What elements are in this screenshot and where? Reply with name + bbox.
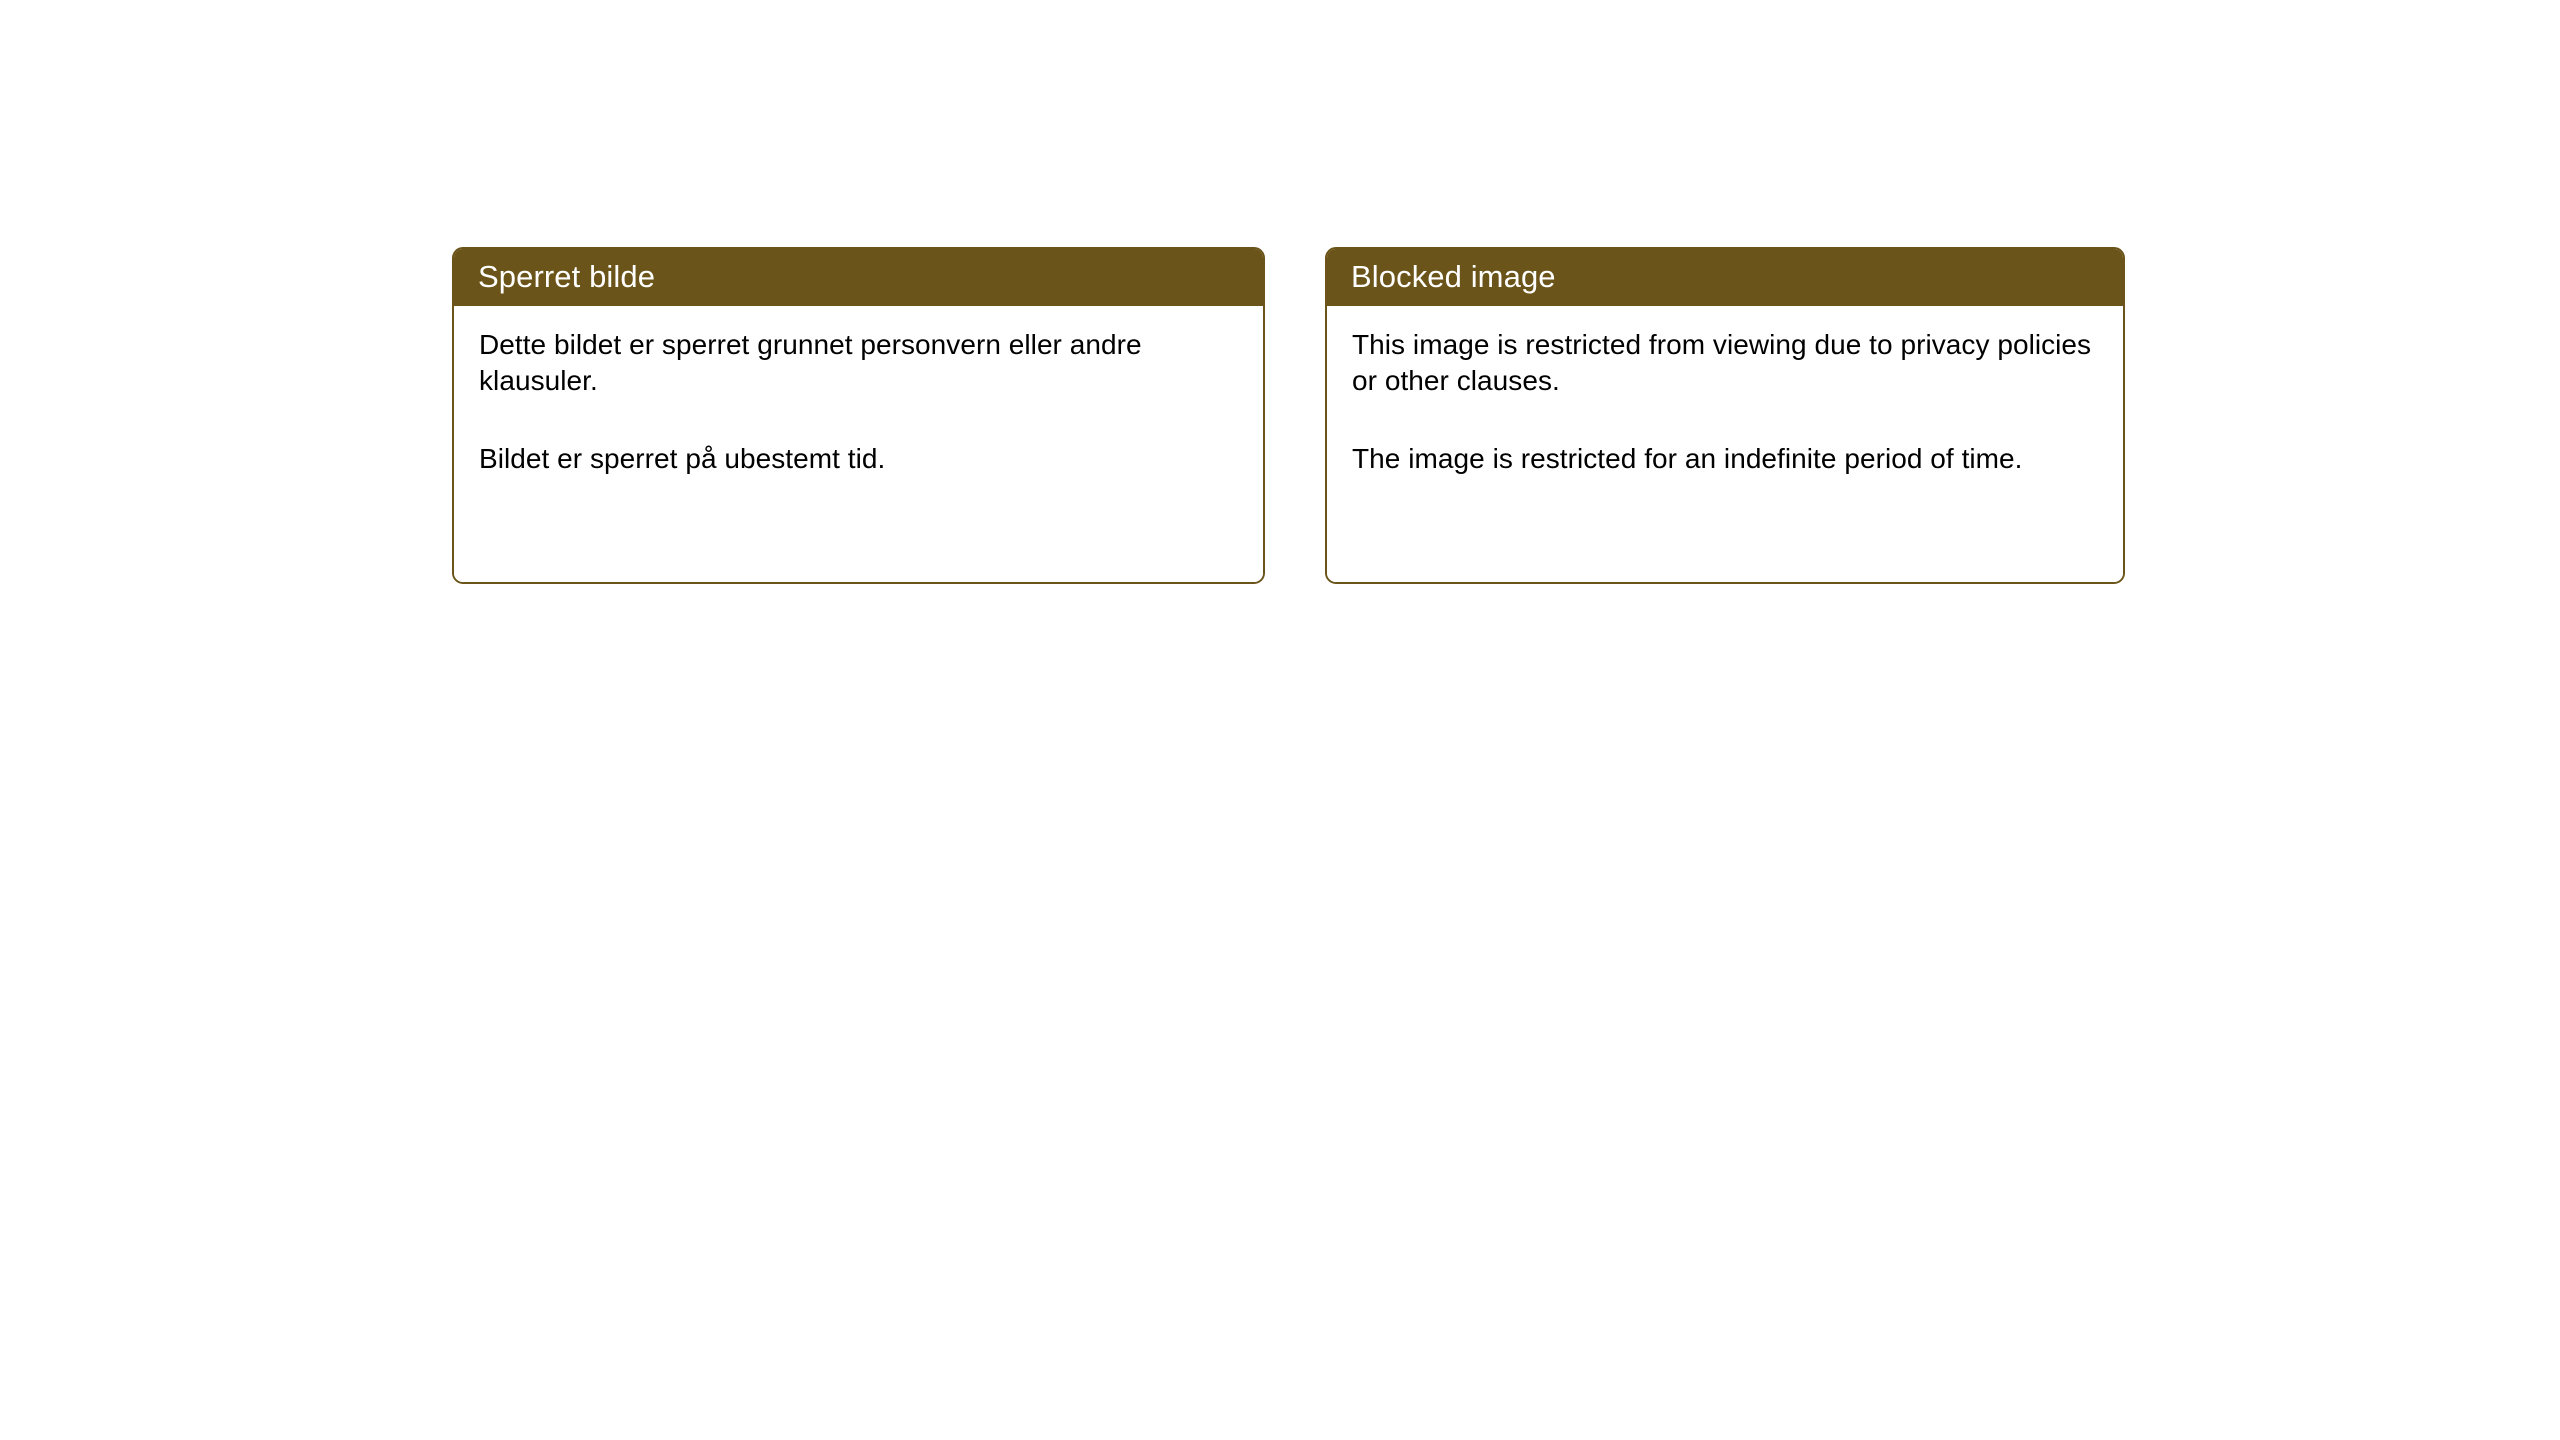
notice-title-norwegian: Sperret bilde <box>478 261 655 292</box>
notice-paragraph-reason-english: This image is restricted from viewing du… <box>1352 327 2099 399</box>
notice-title-english: Blocked image <box>1351 261 1556 292</box>
notice-body-english: This image is restricted from viewing du… <box>1327 306 2123 582</box>
blocked-image-notice-card-english: Blocked image This image is restricted f… <box>1325 247 2125 584</box>
notice-paragraph-duration-english: The image is restricted for an indefinit… <box>1352 441 2099 477</box>
notice-paragraph-reason-norwegian: Dette bildet er sperret grunnet personve… <box>479 327 1239 399</box>
notice-header-norwegian: Sperret bilde <box>454 249 1263 306</box>
notice-body-norwegian: Dette bildet er sperret grunnet personve… <box>454 306 1263 582</box>
notice-paragraph-duration-norwegian: Bildet er sperret på ubestemt tid. <box>479 441 1239 477</box>
blocked-image-notice-card-norwegian: Sperret bilde Dette bildet er sperret gr… <box>452 247 1265 584</box>
page-canvas: Sperret bilde Dette bildet er sperret gr… <box>0 0 2560 1440</box>
notice-header-english: Blocked image <box>1327 249 2123 306</box>
